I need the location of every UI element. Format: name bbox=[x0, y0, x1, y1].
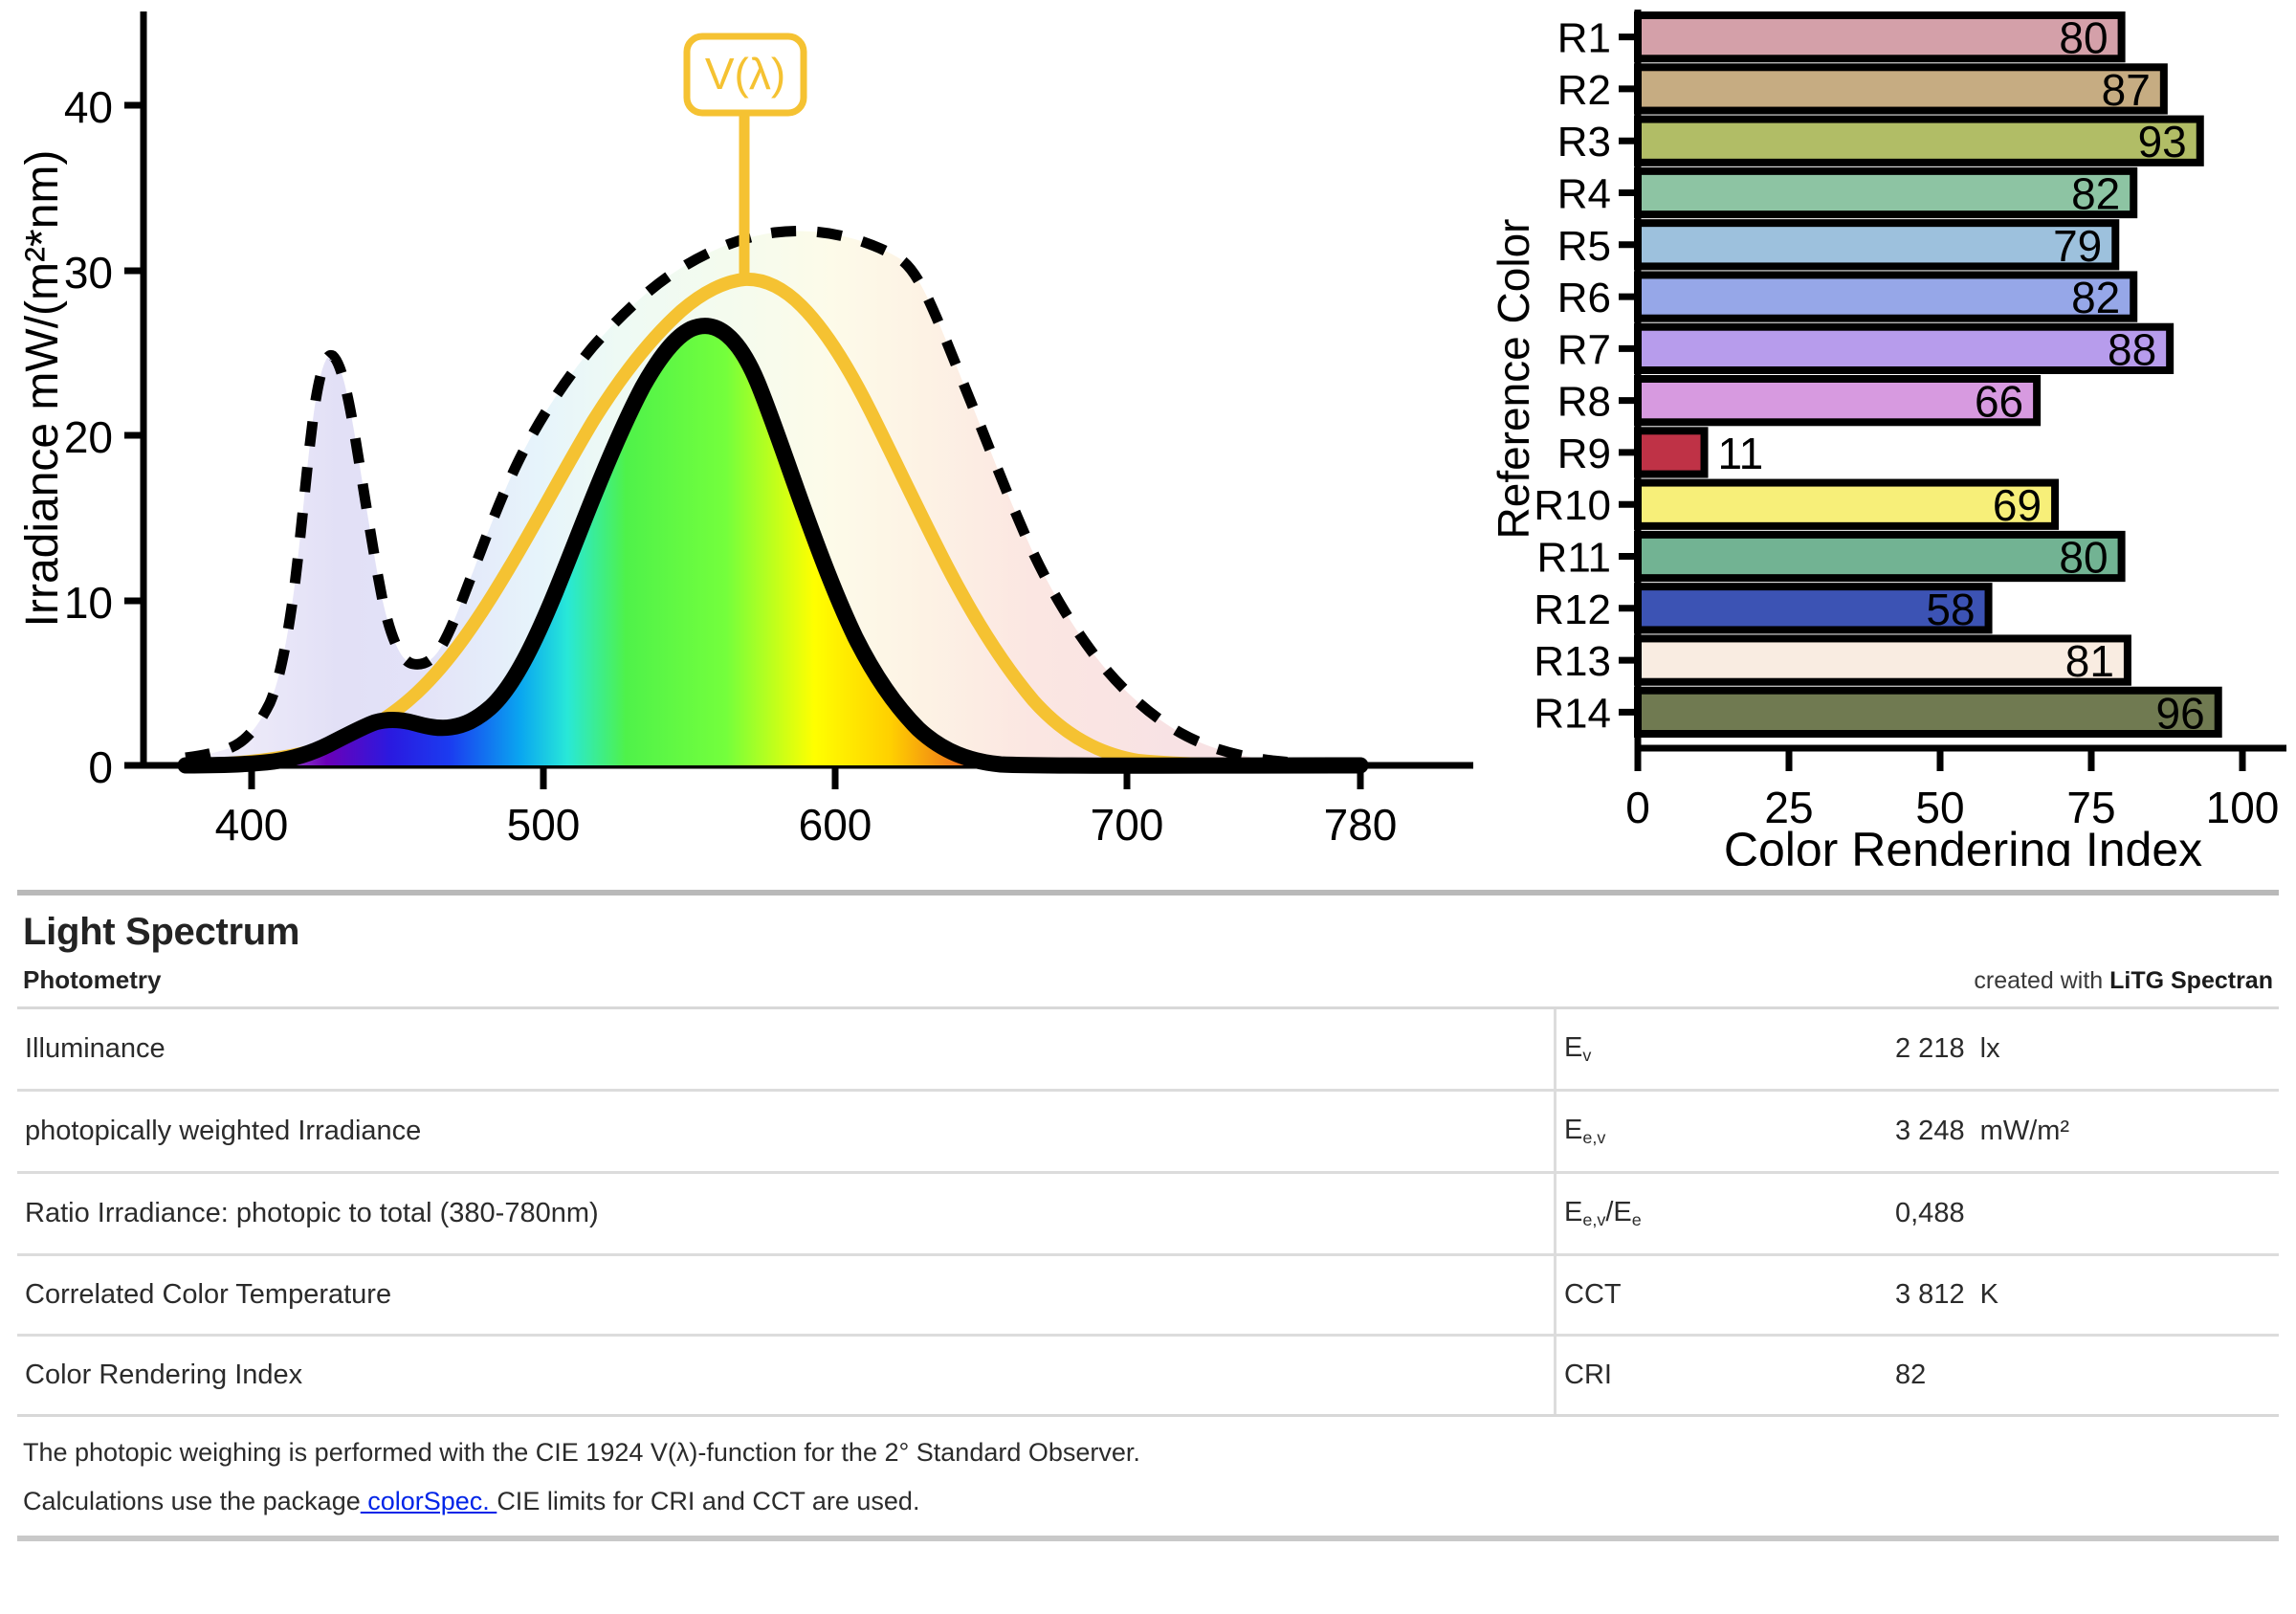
title-block: Light Spectrum bbox=[0, 895, 2296, 958]
row-quantity-name: Ratio Irradiance: photopic to total (380… bbox=[17, 1173, 1556, 1255]
cri-y-tick-label: R2 bbox=[1557, 67, 1611, 114]
row-symbol: CCT bbox=[1556, 1255, 1888, 1336]
cri-bar-value: 79 bbox=[2053, 221, 2102, 271]
credit-text: created with LiTG Spectran bbox=[1974, 967, 2273, 995]
cri-bar-value: 80 bbox=[2059, 13, 2108, 63]
row-value: 0,488 bbox=[1888, 1173, 2279, 1255]
cri-bar-value: 87 bbox=[2102, 65, 2151, 115]
cri-bar-value: 11 bbox=[1718, 429, 1764, 478]
cri-svg: 80R187R293R382R479R582R688R766R811R969R1… bbox=[1492, 0, 2296, 866]
row-value: 2 218 lx bbox=[1888, 1009, 2279, 1091]
row-quantity-name: Illuminance bbox=[17, 1009, 1556, 1091]
charts-row: 0 10 20 30 40 400 500 600 700 780 Wavele… bbox=[0, 0, 2296, 866]
cri-bar bbox=[1638, 223, 2115, 266]
row-value: 82 bbox=[1888, 1336, 2279, 1415]
row-symbol: CRI bbox=[1556, 1336, 1888, 1415]
spectrum-y-axis-label: Irradiance mW/(m²*nm) bbox=[17, 150, 68, 628]
note-line-2: Calculations use the package colorSpec. … bbox=[23, 1477, 2273, 1526]
note-line-2-pre: Calculations use the package bbox=[23, 1487, 361, 1515]
y-tick-20: 20 bbox=[64, 412, 113, 462]
section-subtitle: Photometry bbox=[23, 965, 161, 995]
credit-brand: LiTG Spectran bbox=[2109, 967, 2273, 994]
spectrum-x-tick-labels: 400 500 600 700 780 bbox=[215, 800, 1398, 850]
cri-y-tick-label: R14 bbox=[1534, 690, 1611, 737]
cri-bar bbox=[1638, 171, 2133, 214]
cri-bar bbox=[1638, 327, 2170, 370]
cri-bar-value: 66 bbox=[1975, 377, 2023, 427]
y-tick-10: 10 bbox=[64, 578, 113, 628]
row-symbol: Ee,v/Ee bbox=[1556, 1173, 1888, 1255]
cri-bar-value: 81 bbox=[2065, 636, 2114, 686]
cri-bar bbox=[1638, 67, 2164, 110]
cri-bar-value: 96 bbox=[2156, 688, 2205, 738]
divider-bottom bbox=[17, 1536, 2279, 1541]
cri-bar bbox=[1638, 691, 2219, 734]
cri-y-tick-label: R3 bbox=[1557, 119, 1611, 166]
cri-y-tick-label: R10 bbox=[1534, 482, 1611, 529]
spectrum-x-axis-label: Wavelength (nm) bbox=[604, 861, 966, 866]
cri-x-axis-label: Color Rendering Index bbox=[1724, 823, 2202, 866]
cri-x-tick-100: 100 bbox=[2206, 783, 2280, 832]
cri-bar-value: 58 bbox=[1926, 585, 1975, 634]
x-tick-500: 500 bbox=[507, 800, 581, 850]
table-row: photopically weighted IrradianceEe,v3 24… bbox=[17, 1091, 2279, 1173]
row-quantity-name: photopically weighted Irradiance bbox=[17, 1091, 1556, 1173]
table-row: Color Rendering IndexCRI82 bbox=[17, 1336, 2279, 1415]
x-tick-780: 780 bbox=[1324, 800, 1398, 850]
cri-y-tick-label: R6 bbox=[1557, 275, 1611, 321]
row-symbol: Ee,v bbox=[1556, 1091, 1888, 1173]
cri-bar-value: 88 bbox=[2108, 324, 2156, 374]
light-spectrum-report-page: 0 10 20 30 40 400 500 600 700 780 Wavele… bbox=[0, 0, 2296, 1614]
cri-y-tick-label: R12 bbox=[1534, 586, 1611, 633]
cri-chart: 80R187R293R382R479R582R688R766R811R969R1… bbox=[1492, 0, 2296, 866]
row-quantity-name: Correlated Color Temperature bbox=[17, 1255, 1556, 1336]
photometry-table: IlluminanceEv2 218 lxphotopically weight… bbox=[17, 1009, 2279, 1414]
row-value: 3 248 mW/m² bbox=[1888, 1091, 2279, 1173]
subhead-row: Photometry created with LiTG Spectran bbox=[0, 958, 2296, 1006]
y-tick-40: 40 bbox=[64, 82, 113, 132]
note-line-1: The photopic weighing is performed with … bbox=[23, 1428, 2273, 1477]
row-symbol: Ev bbox=[1556, 1009, 1888, 1091]
spectrum-chart: 0 10 20 30 40 400 500 600 700 780 Wavele… bbox=[0, 0, 1492, 866]
report-card: Light Spectrum Photometry created with L… bbox=[0, 890, 2296, 1541]
row-quantity-name: Color Rendering Index bbox=[17, 1336, 1556, 1415]
colorspec-link[interactable]: colorSpec. bbox=[361, 1487, 497, 1515]
y-tick-0: 0 bbox=[88, 742, 113, 792]
y-tick-30: 30 bbox=[64, 248, 113, 298]
cri-bar bbox=[1638, 638, 2128, 681]
cri-bars-group: 80R187R293R382R479R582R688R766R811R969R1… bbox=[1534, 13, 2218, 739]
note-line-2-post: CIE limits for CRI and CCT are used. bbox=[497, 1487, 919, 1515]
cri-bar bbox=[1638, 535, 2122, 578]
notes-block: The photopic weighing is performed with … bbox=[0, 1417, 2296, 1536]
cri-y-tick-label: R5 bbox=[1557, 223, 1611, 270]
cri-y-tick-label: R4 bbox=[1557, 171, 1611, 218]
row-value: 3 812 K bbox=[1888, 1255, 2279, 1336]
credit-prefix: created with bbox=[1974, 967, 2109, 994]
cri-bar-value: 80 bbox=[2059, 533, 2108, 583]
cri-x-tick-0: 0 bbox=[1625, 783, 1650, 832]
cri-y-tick-label: R11 bbox=[1537, 535, 1611, 582]
cri-bar-value: 82 bbox=[2071, 273, 2120, 322]
cri-bar bbox=[1638, 15, 2122, 58]
cri-y-tick-label: R8 bbox=[1557, 379, 1611, 426]
spectrum-y-tick-labels: 0 10 20 30 40 bbox=[64, 82, 113, 792]
page-title: Light Spectrum bbox=[23, 911, 2273, 954]
cri-y-tick-label: R7 bbox=[1557, 326, 1611, 373]
x-tick-600: 600 bbox=[799, 800, 872, 850]
cri-bar-value: 93 bbox=[2138, 117, 2187, 166]
cri-bar-value: 69 bbox=[1993, 480, 2042, 530]
cri-y-tick-label: R1 bbox=[1557, 15, 1611, 62]
table-row: Correlated Color TemperatureCCT3 812 K bbox=[17, 1255, 2279, 1336]
cri-bar bbox=[1638, 431, 1705, 474]
cri-bar-value: 82 bbox=[2071, 169, 2120, 219]
v-lambda-callout-label: V(λ) bbox=[705, 49, 785, 99]
cri-bar bbox=[1638, 275, 2133, 318]
cri-y-tick-label: R13 bbox=[1534, 638, 1611, 685]
table-row: IlluminanceEv2 218 lx bbox=[17, 1009, 2279, 1091]
cri-y-axis-label: Reference Color bbox=[1492, 219, 1538, 540]
spectrum-svg: 0 10 20 30 40 400 500 600 700 780 Wavele… bbox=[0, 0, 1492, 866]
cri-bar bbox=[1638, 120, 2200, 163]
x-tick-400: 400 bbox=[215, 800, 289, 850]
table-row: Ratio Irradiance: photopic to total (380… bbox=[17, 1173, 2279, 1255]
x-tick-700: 700 bbox=[1091, 800, 1164, 850]
cri-y-tick-label: R9 bbox=[1557, 431, 1611, 477]
